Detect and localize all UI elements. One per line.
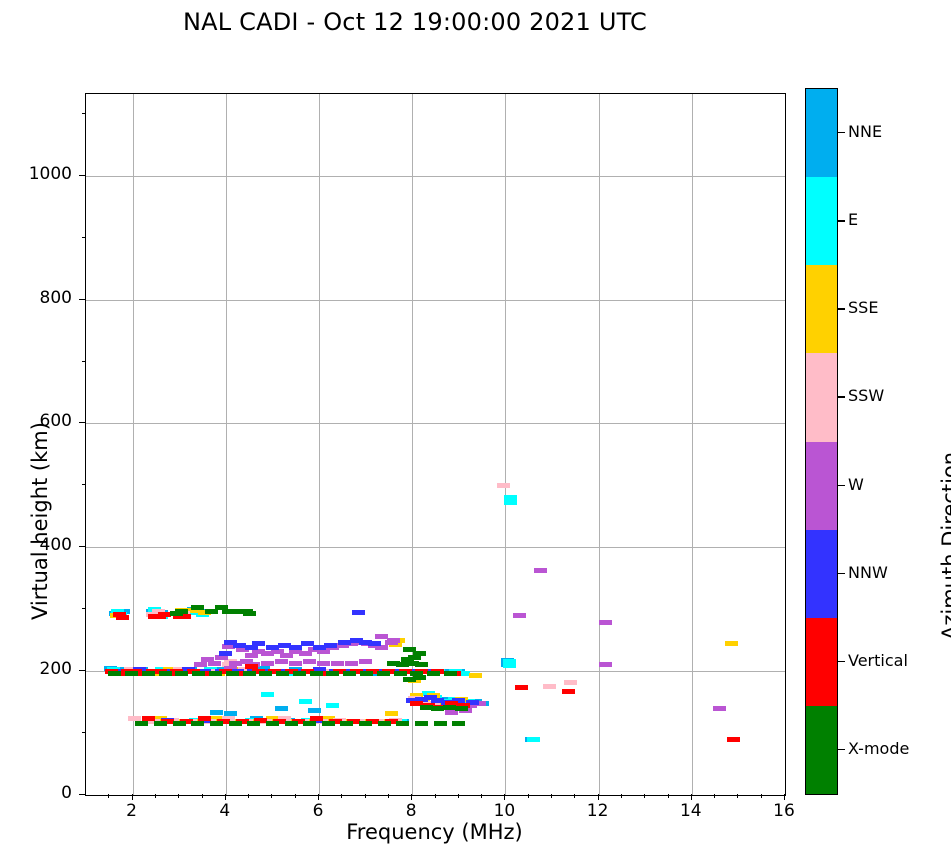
colorbar-label-e: E	[848, 210, 858, 229]
data-mark	[324, 643, 337, 648]
x-tick-minor	[737, 794, 738, 798]
data-mark	[266, 721, 279, 726]
colorbar-segment-w	[806, 442, 837, 530]
data-mark	[378, 721, 391, 726]
x-tick	[691, 794, 692, 800]
azimuth-colorbar	[805, 88, 838, 795]
gridline-horizontal	[86, 423, 785, 424]
gridline-vertical	[599, 94, 600, 795]
x-tick-minor	[668, 794, 669, 798]
x-tick-minor	[458, 794, 459, 798]
data-mark	[154, 721, 167, 726]
y-tick	[79, 546, 85, 547]
data-mark	[713, 706, 726, 711]
data-mark	[444, 671, 457, 676]
y-tick	[79, 670, 85, 671]
data-mark	[504, 495, 517, 500]
y-tick	[79, 794, 85, 795]
data-mark	[226, 671, 239, 676]
data-mark	[527, 737, 540, 742]
colorbar-segment-nnw	[806, 530, 837, 618]
data-mark	[413, 675, 426, 680]
data-mark	[310, 716, 323, 721]
data-mark	[175, 671, 188, 676]
y-tick-minor	[82, 361, 86, 362]
data-mark	[331, 661, 344, 666]
x-tick-minor	[528, 794, 529, 798]
data-mark	[285, 721, 298, 726]
data-mark	[275, 706, 288, 711]
colorbar-label-x-mode: X-mode	[848, 739, 909, 758]
y-tick	[79, 175, 85, 176]
data-mark	[727, 737, 740, 742]
x-tick	[784, 794, 785, 800]
x-tick-minor	[551, 794, 552, 798]
data-mark	[289, 661, 302, 666]
data-mark	[209, 671, 222, 676]
data-mark	[469, 673, 482, 678]
data-mark	[194, 662, 207, 667]
x-tick-minor	[271, 794, 272, 798]
data-mark	[503, 663, 516, 668]
data-mark	[310, 671, 323, 676]
data-mark	[303, 659, 316, 664]
x-tick-minor	[621, 794, 622, 798]
colorbar-label-ssw: SSW	[848, 386, 884, 405]
data-mark	[259, 671, 272, 676]
data-mark	[359, 721, 372, 726]
x-tick-label: 4	[195, 801, 255, 821]
data-mark	[303, 721, 316, 726]
data-mark	[191, 721, 204, 726]
data-mark	[135, 721, 148, 726]
data-mark	[317, 661, 330, 666]
y-tick	[79, 299, 85, 300]
x-tick-minor	[155, 794, 156, 798]
colorbar-tick	[838, 573, 845, 574]
data-mark	[562, 689, 575, 694]
colorbar-label-w: W	[848, 475, 864, 494]
data-mark	[599, 620, 612, 625]
x-tick	[411, 794, 412, 800]
x-tick-minor	[365, 794, 366, 798]
colorbar-tick	[838, 132, 845, 133]
y-tick-minor	[82, 732, 86, 733]
data-mark	[385, 711, 398, 716]
x-tick-minor	[714, 794, 715, 798]
data-mark	[247, 721, 260, 726]
x-tick-label: 10	[474, 801, 534, 821]
colorbar-title: Azimuth Direction	[938, 452, 951, 640]
data-mark	[504, 500, 517, 505]
data-mark	[340, 721, 353, 726]
colorbar-label-vertical: Vertical	[848, 651, 908, 670]
colorbar-segment-sse	[806, 265, 837, 353]
data-mark	[322, 721, 335, 726]
gridline-vertical	[412, 94, 413, 795]
data-mark	[142, 671, 155, 676]
colorbar-label-nne: NNE	[848, 122, 882, 141]
data-mark	[515, 685, 528, 690]
data-mark	[261, 692, 274, 697]
plot-inner	[86, 94, 785, 795]
data-mark	[158, 612, 171, 617]
data-mark	[128, 716, 141, 721]
colorbar-segment-x-mode	[806, 706, 837, 794]
x-tick-minor	[644, 794, 645, 798]
data-mark	[229, 721, 242, 726]
data-mark	[210, 721, 223, 726]
x-tick-minor	[574, 794, 575, 798]
gridline-vertical	[692, 94, 693, 795]
data-mark	[326, 703, 339, 708]
y-tick-label: 200	[0, 659, 72, 679]
data-mark	[452, 721, 465, 726]
y-tick-minor	[82, 237, 86, 238]
x-tick-minor	[481, 794, 482, 798]
data-mark	[326, 671, 339, 676]
data-mark	[408, 655, 421, 660]
colorbar-segment-ssw	[806, 353, 837, 441]
x-tick-minor	[178, 794, 179, 798]
data-mark	[352, 610, 365, 615]
data-mark	[276, 671, 289, 676]
data-mark	[201, 657, 214, 662]
data-mark	[497, 483, 510, 488]
data-mark	[219, 651, 232, 656]
x-tick-minor	[341, 794, 342, 798]
gridline-vertical	[226, 94, 227, 795]
x-tick	[225, 794, 226, 800]
data-mark	[377, 671, 390, 676]
x-tick-label: 12	[568, 801, 628, 821]
data-mark	[125, 671, 138, 676]
data-mark	[415, 721, 428, 726]
colorbar-segment-nne	[806, 89, 837, 177]
x-tick-minor	[761, 794, 762, 798]
colorbar-tick	[838, 396, 845, 397]
x-tick	[132, 794, 133, 800]
x-tick-minor	[388, 794, 389, 798]
y-tick-label: 800	[0, 288, 72, 308]
data-mark	[275, 659, 288, 664]
data-mark	[599, 662, 612, 667]
colorbar-tick	[838, 661, 845, 662]
y-tick-label: 1000	[0, 164, 72, 184]
data-mark	[192, 671, 205, 676]
data-mark	[198, 716, 211, 721]
colorbar-label-nnw: NNW	[848, 563, 888, 582]
data-mark	[243, 671, 256, 676]
gridline-vertical	[319, 94, 320, 795]
gridline-horizontal	[86, 176, 785, 177]
y-tick	[79, 422, 85, 423]
data-mark	[360, 671, 373, 676]
data-mark	[210, 710, 223, 715]
page-title: NAL CADI - Oct 12 19:00:00 2021 UTC	[0, 8, 830, 36]
data-mark	[343, 671, 356, 676]
data-mark	[159, 671, 172, 676]
data-mark	[142, 716, 155, 721]
data-mark	[359, 659, 372, 664]
data-mark	[534, 568, 547, 573]
ionogram-figure: NAL CADI - Oct 12 19:00:00 2021 UTC 2468…	[0, 0, 951, 856]
y-tick-minor	[82, 484, 86, 485]
gridline-vertical	[133, 94, 134, 795]
plot-area	[85, 93, 786, 796]
data-mark	[396, 721, 409, 726]
data-mark	[455, 706, 468, 711]
data-mark	[564, 680, 577, 685]
colorbar-segment-e	[806, 177, 837, 265]
x-tick	[318, 794, 319, 800]
x-tick-label: 6	[288, 801, 348, 821]
data-mark	[108, 671, 121, 676]
data-mark	[243, 611, 256, 616]
data-mark	[261, 661, 274, 666]
data-mark	[543, 684, 556, 689]
data-mark	[345, 661, 358, 666]
data-mark	[427, 671, 440, 676]
x-tick-minor	[202, 794, 203, 798]
data-mark	[415, 662, 428, 667]
gridline-horizontal	[86, 300, 785, 301]
gridline-vertical	[505, 94, 506, 795]
x-tick-minor	[108, 794, 109, 798]
x-tick-label: 14	[661, 801, 721, 821]
x-tick-minor	[295, 794, 296, 798]
data-mark	[299, 699, 312, 704]
x-tick-label: 8	[381, 801, 441, 821]
data-mark	[170, 611, 183, 616]
x-tick-minor	[248, 794, 249, 798]
data-mark	[394, 671, 407, 676]
y-axis-label: Virtual height (km)	[28, 422, 52, 620]
data-mark	[513, 613, 526, 618]
data-mark	[293, 671, 306, 676]
colorbar-tick	[838, 220, 845, 221]
data-mark	[387, 638, 400, 643]
colorbar-segment-vertical	[806, 618, 837, 706]
gridline-horizontal	[86, 547, 785, 548]
colorbar-tick	[838, 308, 845, 309]
data-mark	[434, 721, 447, 726]
data-mark	[116, 615, 129, 620]
colorbar-tick	[838, 749, 845, 750]
x-tick-label: 2	[102, 801, 162, 821]
x-tick	[598, 794, 599, 800]
data-mark	[252, 641, 265, 646]
colorbar-tick	[838, 485, 845, 486]
data-mark	[173, 721, 186, 726]
y-tick-minor	[82, 608, 86, 609]
x-tick-minor	[435, 794, 436, 798]
y-tick-minor	[82, 113, 86, 114]
data-mark	[725, 641, 738, 646]
data-mark	[191, 605, 204, 610]
y-tick-label: 0	[0, 783, 72, 803]
x-tick	[504, 794, 505, 800]
x-tick-label: 16	[754, 801, 814, 821]
colorbar-label-sse: SSE	[848, 298, 878, 317]
data-mark	[308, 708, 321, 713]
x-axis-label: Frequency (MHz)	[85, 820, 784, 844]
data-mark	[368, 641, 381, 646]
data-mark	[413, 651, 426, 656]
